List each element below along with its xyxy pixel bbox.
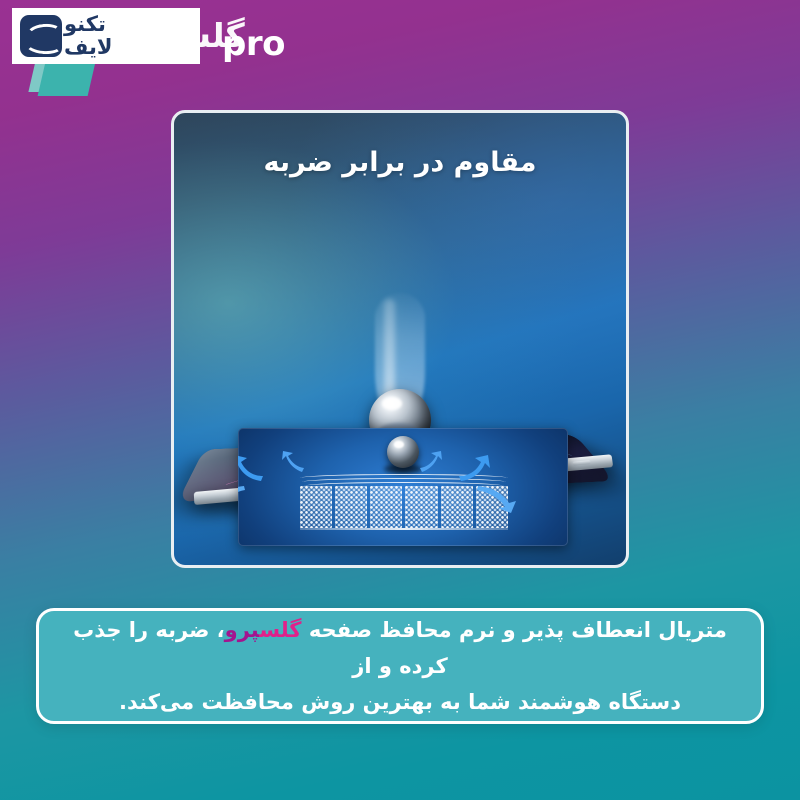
shock-absorption-diagram [238, 428, 568, 546]
volume-down-button[interactable] [572, 460, 590, 466]
bead-column [405, 486, 437, 528]
technolife-swoosh-icon [20, 15, 62, 57]
bead-column [441, 486, 473, 528]
hero-image-card: مقاوم در برابر ضربه [171, 110, 629, 568]
diagram-base-line [300, 528, 508, 530]
logo-line-2: لایف [64, 37, 113, 58]
caption-card: متریال انعطاف پذیر و نرم محافظ صفحه گلسپ… [36, 608, 764, 724]
brand-zone: گلس‌پرو pro تکنو لایف [0, 0, 330, 100]
hero-heading: مقاوم در برابر ضربه [174, 147, 626, 178]
bead-column [335, 486, 367, 528]
caption-line2: دستگاه هوشمند شما به بهترین روش محافظت م… [119, 690, 681, 714]
brand-highlight-glass: گلس [259, 618, 301, 642]
caption-text: متریال انعطاف پذیر و نرم محافظ صفحه گلسپ… [39, 612, 761, 720]
logo-wordmark: تکنو لایف [64, 14, 113, 58]
swoosh-bottom-icon [24, 34, 62, 56]
bead-column [370, 486, 402, 528]
brand-highlight-pro: پرو [225, 618, 260, 642]
caption-line1-before: متریال انعطاف پذیر و نرم محافظ صفحه [302, 618, 727, 642]
technolife-logo[interactable]: تکنو لایف [12, 8, 200, 64]
bead-column [300, 486, 332, 528]
diagram-impact-ball [387, 436, 419, 468]
brand-pro-label: pro [222, 24, 285, 64]
logo-line-1: تکنو [64, 14, 106, 35]
promo-poster: گلس‌پرو pro تکنو لایف مقاوم در برابر ضرب… [0, 0, 800, 800]
